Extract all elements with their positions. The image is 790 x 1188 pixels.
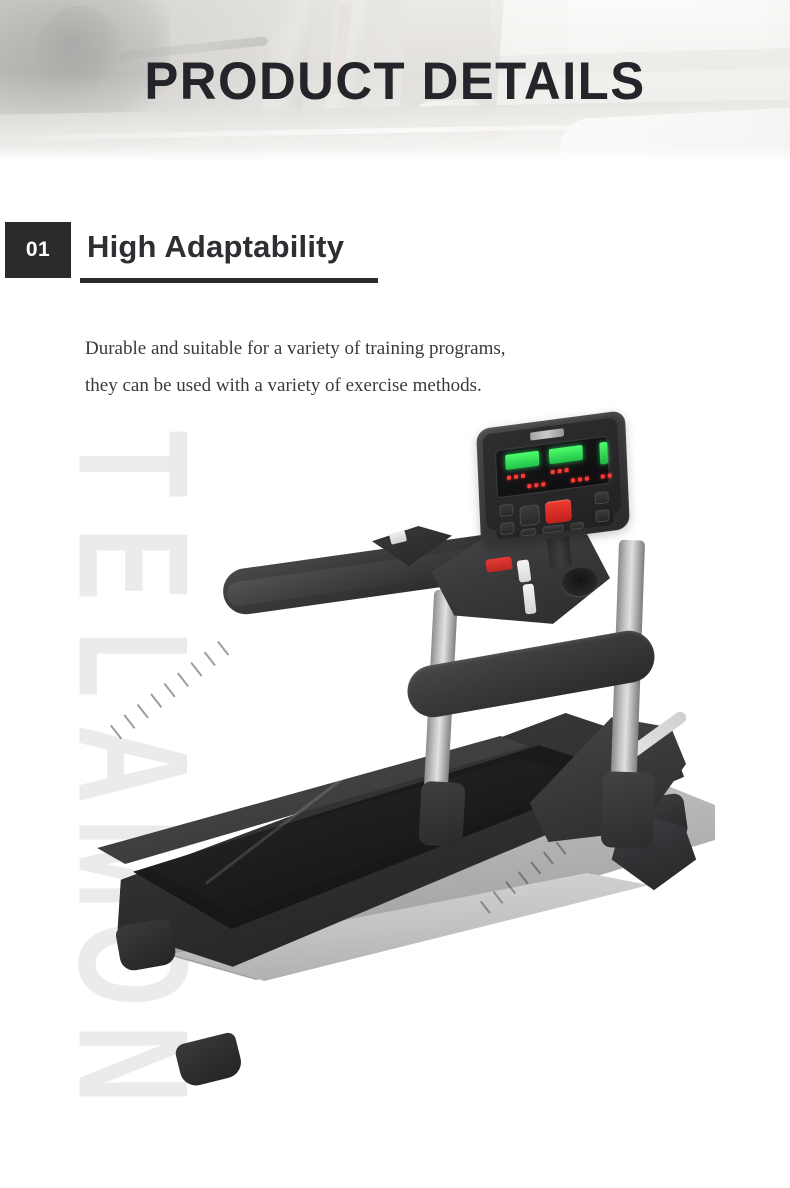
program-button[interactable] [519, 504, 540, 527]
front-left-foot [114, 917, 177, 972]
start-button[interactable] [542, 524, 564, 534]
section-description: Durable and suitable for a variety of tr… [85, 330, 685, 404]
speed-up-button[interactable] [499, 503, 513, 517]
section-number-badge: 01 [5, 222, 71, 278]
incline-up-button[interactable] [594, 491, 608, 505]
page-title: PRODUCT DETAILS [16, 0, 774, 163]
upright-base-cap-right [601, 771, 656, 849]
section-title: High Adaptability [87, 224, 344, 270]
front-right-foot [174, 1031, 245, 1089]
incline-down-button[interactable] [595, 509, 609, 523]
stop-button[interactable] [545, 499, 572, 524]
console-led-panel [495, 435, 610, 498]
description-line-1: Durable and suitable for a variety of tr… [85, 330, 685, 367]
section-heading: 01 High Adaptability [0, 222, 790, 284]
page-banner: PRODUCT DETAILS [0, 0, 790, 163]
led-indicator-dots [496, 437, 609, 498]
enter-button[interactable] [570, 521, 584, 530]
upright-base-cap-left [418, 781, 465, 847]
console-face [482, 417, 621, 531]
mode-button[interactable] [520, 528, 536, 537]
product-image-treadmill [0, 400, 790, 1130]
console-housing [476, 410, 630, 548]
speed-down-button[interactable] [500, 521, 514, 535]
console-brand-logo [530, 428, 564, 440]
title-underline-rule [80, 278, 378, 283]
description-line-2: they can be used with a variety of exerc… [85, 367, 685, 404]
